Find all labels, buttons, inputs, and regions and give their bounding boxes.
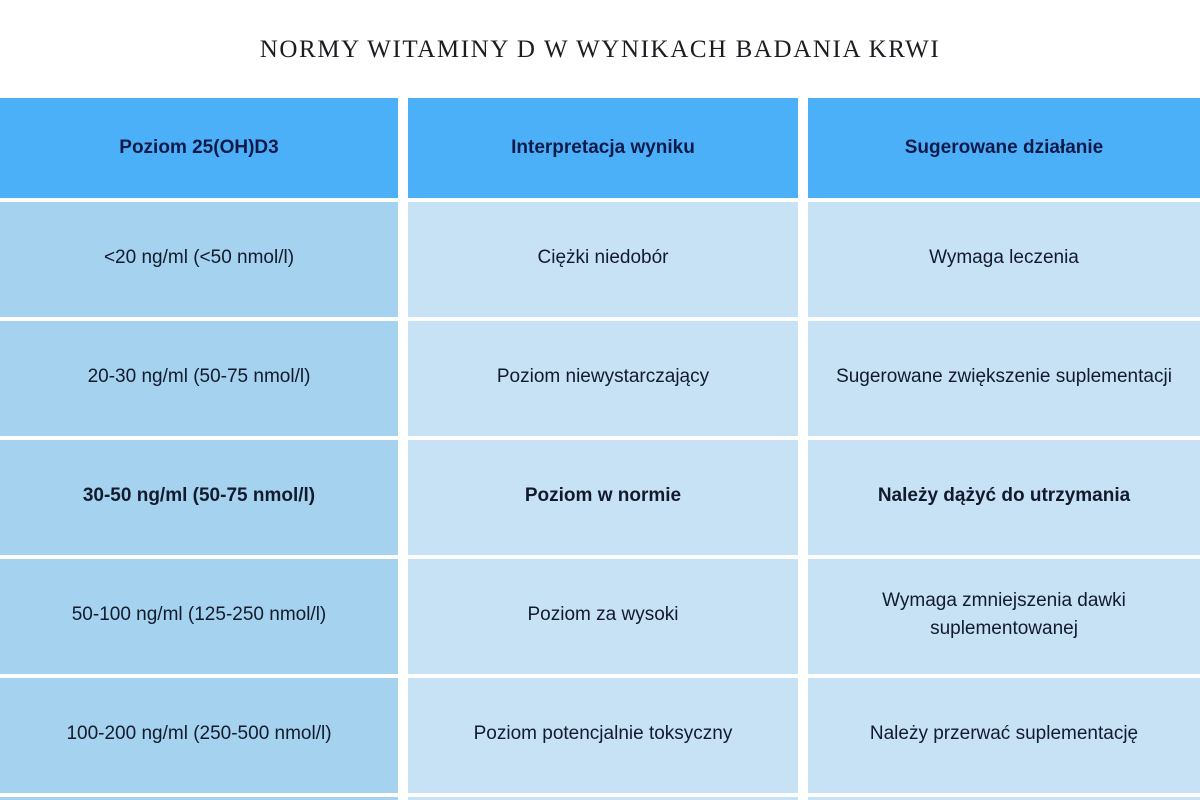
- cell-interpretation: Ciężki niedobór: [408, 198, 798, 317]
- cell-spacer: [798, 198, 808, 317]
- cell-interpretation: Poziom potencjalnie toksyczny: [408, 674, 798, 793]
- cell-level: <20 ng/ml (<50 nmol/l): [0, 198, 398, 317]
- cell-interpretation: Poziom niewystarczający: [408, 317, 798, 436]
- page-title: NORMY WITAMINY D W WYNIKACH BADANIA KRWI: [260, 37, 941, 62]
- cell-action: Należy dążyć do utrzymania: [808, 436, 1200, 555]
- cell-interpretation: Poziom za wysoki: [408, 555, 798, 674]
- table-body: <20 ng/ml (<50 nmol/l) Ciężki niedobór W…: [0, 198, 1200, 800]
- page-root: NORMY WITAMINY D W WYNIKACH BADANIA KRWI…: [0, 0, 1200, 800]
- cell-spacer: [398, 198, 408, 317]
- table-row: 100-200 ng/ml (250-500 nmol/l) Poziom po…: [0, 674, 1200, 793]
- table-header: Poziom 25(OH)D3 Interpretacja wyniku Sug…: [0, 98, 1200, 198]
- cell-action: Wymaga zmniejszenia dawki suplementowane…: [808, 555, 1200, 674]
- cell-interpretation: Poziom toksyczny: [408, 793, 798, 800]
- cell-interpretation: Poziom w normie: [408, 436, 798, 555]
- cell-spacer: [798, 317, 808, 436]
- cell-level: >200 ng/ml (>500 nmol/l): [0, 793, 398, 800]
- cell-spacer: [798, 674, 808, 793]
- cell-spacer: [398, 674, 408, 793]
- cell-spacer: [798, 436, 808, 555]
- title-area: NORMY WITAMINY D W WYNIKACH BADANIA KRWI: [0, 0, 1200, 98]
- cell-spacer: [798, 793, 808, 800]
- table-header-row: Poziom 25(OH)D3 Interpretacja wyniku Sug…: [0, 98, 1200, 198]
- column-header-action: Sugerowane działanie: [808, 98, 1200, 198]
- cell-action: Wymaga leczenia: [808, 793, 1200, 800]
- cell-action: Wymaga leczenia: [808, 198, 1200, 317]
- vitamin-d-reference-table: Poziom 25(OH)D3 Interpretacja wyniku Sug…: [0, 98, 1200, 800]
- table-row: <20 ng/ml (<50 nmol/l) Ciężki niedobór W…: [0, 198, 1200, 317]
- cell-action: Sugerowane zwiększenie suplementacji: [808, 317, 1200, 436]
- cell-spacer: [398, 436, 408, 555]
- column-spacer-1: [398, 98, 408, 198]
- table-row-highlighted: 30-50 ng/ml (50-75 nmol/l) Poziom w norm…: [0, 436, 1200, 555]
- cell-level: 30-50 ng/ml (50-75 nmol/l): [0, 436, 398, 555]
- cell-level: 20-30 ng/ml (50-75 nmol/l): [0, 317, 398, 436]
- cell-spacer: [798, 555, 808, 674]
- cell-action: Należy przerwać suplementację: [808, 674, 1200, 793]
- cell-spacer: [398, 555, 408, 674]
- cell-level: 50-100 ng/ml (125-250 nmol/l): [0, 555, 398, 674]
- table-row: 50-100 ng/ml (125-250 nmol/l) Poziom za …: [0, 555, 1200, 674]
- cell-spacer: [398, 793, 408, 800]
- cell-spacer: [398, 317, 408, 436]
- column-header-level: Poziom 25(OH)D3: [0, 98, 398, 198]
- table-row: >200 ng/ml (>500 nmol/l) Poziom toksyczn…: [0, 793, 1200, 800]
- column-spacer-2: [798, 98, 808, 198]
- table-row: 20-30 ng/ml (50-75 nmol/l) Poziom niewys…: [0, 317, 1200, 436]
- column-header-interpretation: Interpretacja wyniku: [408, 98, 798, 198]
- cell-level: 100-200 ng/ml (250-500 nmol/l): [0, 674, 398, 793]
